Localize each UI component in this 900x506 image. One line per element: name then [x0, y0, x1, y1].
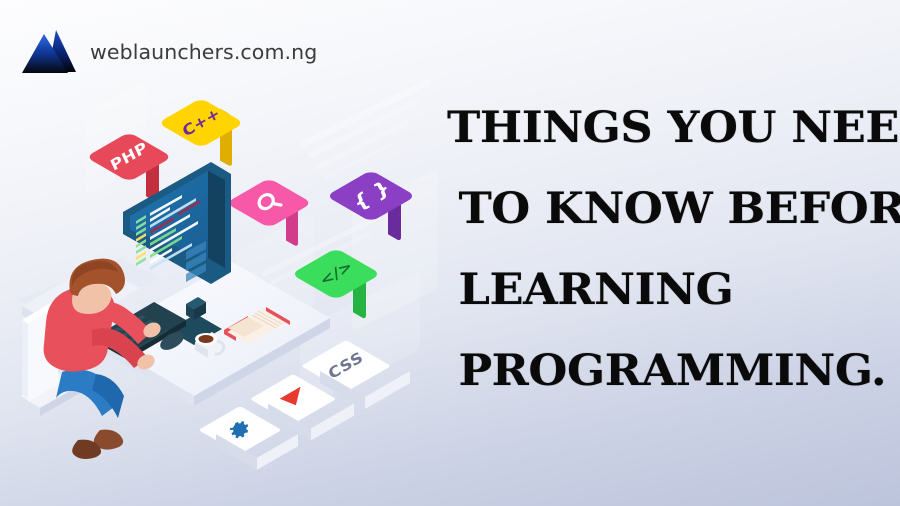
- play-triangle-icon: [278, 385, 308, 414]
- headline-line-2: TO KNOW BEFORE: [447, 169, 894, 250]
- headline-line-4: PROGRAMMING.: [447, 331, 894, 412]
- headline-line-3: LEARNING: [447, 250, 894, 331]
- gear-icon: [226, 416, 253, 444]
- headline-line-1: THINGS YOU NEED: [447, 88, 894, 169]
- developer-illustration: PHP C++ { }: [0, 0, 440, 506]
- css-icon: CSS: [326, 349, 366, 384]
- poster-canvas: weblaunchers.com.ng THINGS YOU NEED TO K…: [0, 0, 900, 506]
- headline-block: THINGS YOU NEED TO KNOW BEFORE LEARNING …: [447, 88, 877, 412]
